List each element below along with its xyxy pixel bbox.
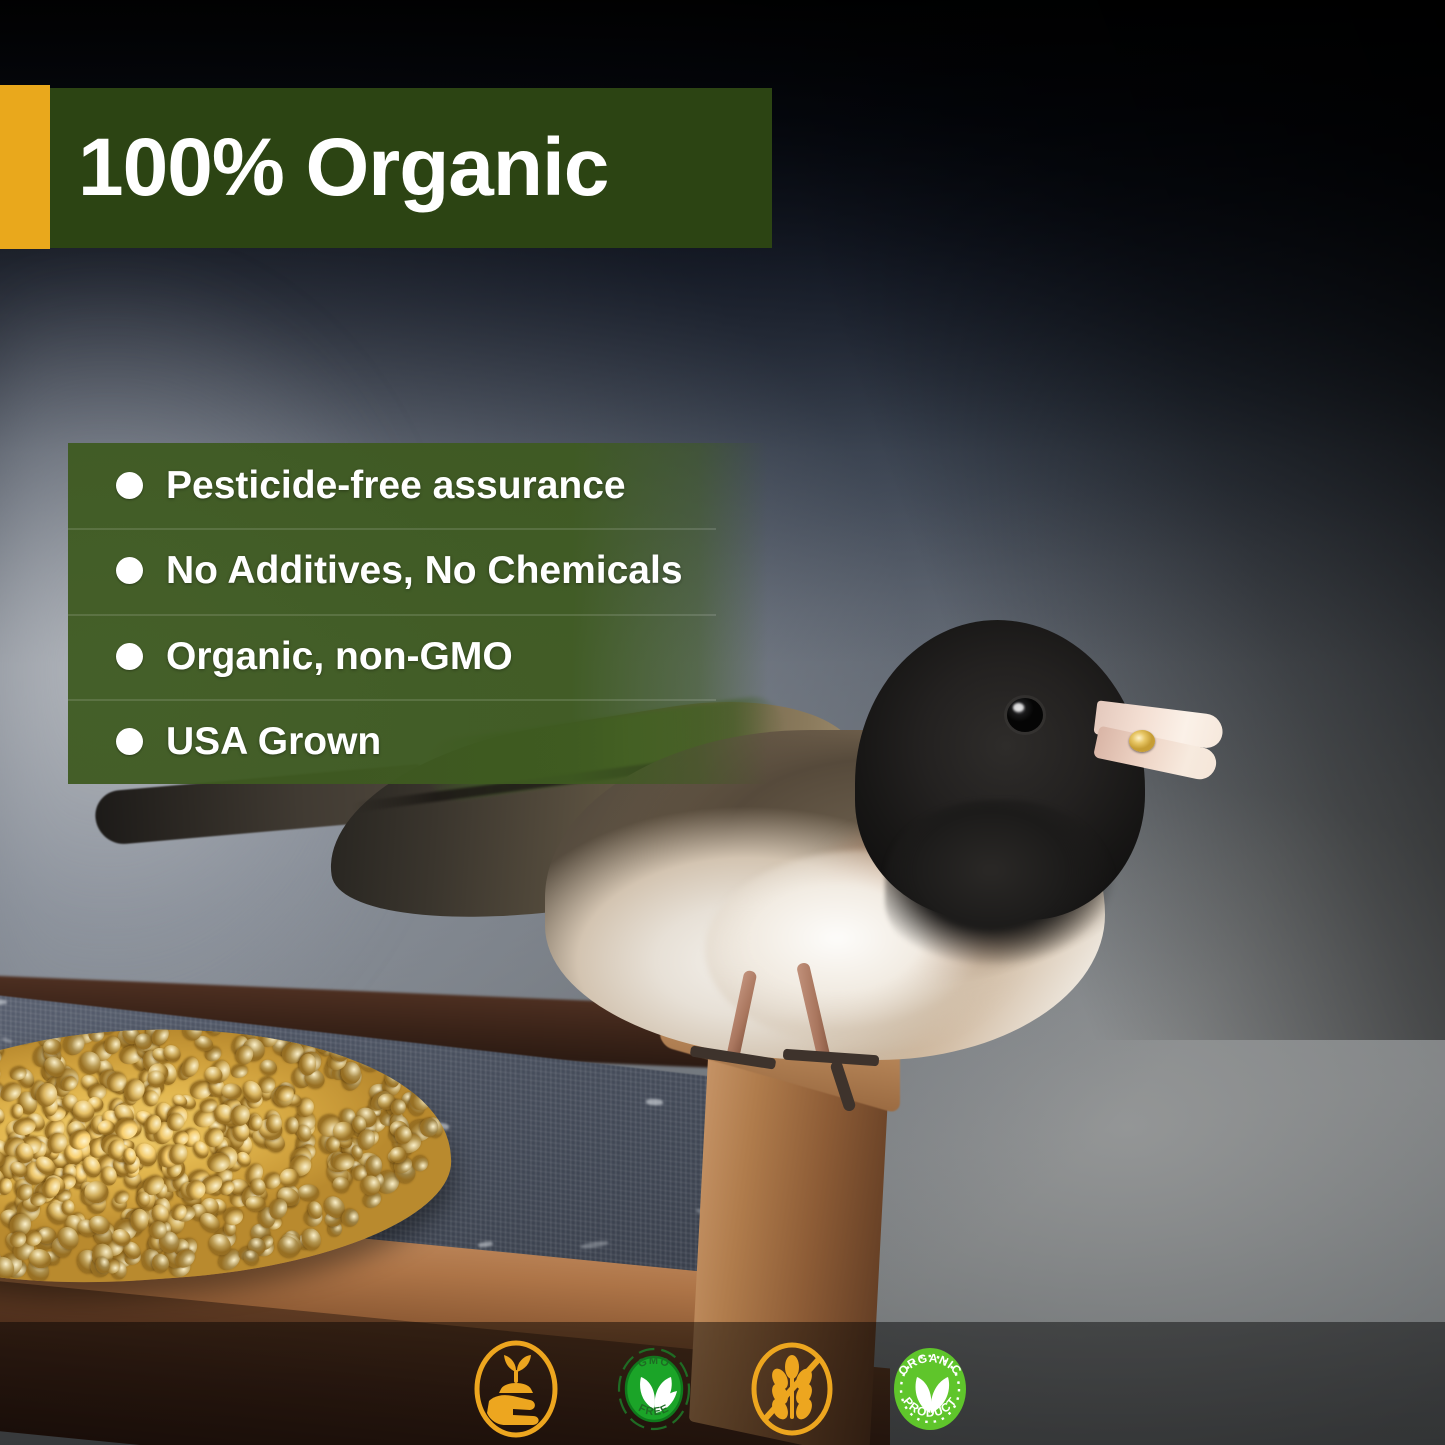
hand-holding-sprout-badge — [471, 1337, 561, 1441]
bird-eye — [1007, 698, 1043, 732]
seed-grain — [130, 1208, 149, 1232]
list-item: No Additives, No Chemicals — [68, 528, 768, 613]
bullet-dot-icon — [116, 472, 143, 499]
list-item: Pesticide-free assurance — [68, 443, 768, 528]
seed-grain — [280, 1169, 299, 1187]
feeder-speck — [0, 1000, 7, 1005]
seed-grain — [137, 1192, 150, 1207]
feature-label: Organic, non-GMO — [166, 637, 513, 676]
bird-throat — [885, 800, 1115, 975]
gmo-free-badge: GMO FREE — [609, 1337, 699, 1441]
header-banner: 100% Organic — [50, 88, 772, 248]
gold-accent-bar — [0, 85, 50, 249]
seed-in-beak — [1129, 730, 1155, 752]
seed-grain — [299, 1226, 323, 1253]
organic-product-badge: ORGANIC PRODUCT — [885, 1337, 975, 1441]
list-item: USA Grown — [68, 699, 768, 784]
seed-grain — [332, 1121, 353, 1140]
seed-grain — [221, 1083, 242, 1100]
feature-list: Pesticide-free assurance No Additives, N… — [68, 443, 768, 784]
seed-grain — [0, 1106, 7, 1126]
feeder-speck — [646, 1098, 664, 1105]
feature-label: Pesticide-free assurance — [166, 466, 626, 505]
bullet-dot-icon — [116, 728, 143, 755]
leaves-icon: ORGANIC PRODUCT — [885, 1337, 975, 1441]
bird-eye-glint — [1013, 703, 1024, 712]
feature-label: USA Grown — [166, 722, 381, 761]
seed-grain — [0, 1177, 14, 1197]
certification-badges: GMO FREE — [0, 1337, 1445, 1441]
seed-grain — [10, 1104, 23, 1120]
bullet-dot-icon — [116, 557, 143, 584]
feeder-speck — [580, 1240, 610, 1250]
leaves-icon: GMO FREE — [609, 1337, 699, 1441]
feeder-speck — [478, 1241, 494, 1248]
list-item: Organic, non-GMO — [68, 614, 768, 699]
wheat-no-icon — [747, 1337, 837, 1441]
seed-grain — [98, 1120, 115, 1135]
feature-label: No Additives, No Chemicals — [166, 551, 683, 590]
gluten-free-badge — [747, 1337, 837, 1441]
product-infographic: 100% Organic Pesticide-free assurance No… — [0, 0, 1445, 1445]
seed-grain — [298, 1184, 319, 1200]
hand-sprout-icon — [471, 1337, 561, 1441]
page-title: 100% Organic — [78, 127, 608, 209]
bullet-dot-icon — [116, 643, 143, 670]
